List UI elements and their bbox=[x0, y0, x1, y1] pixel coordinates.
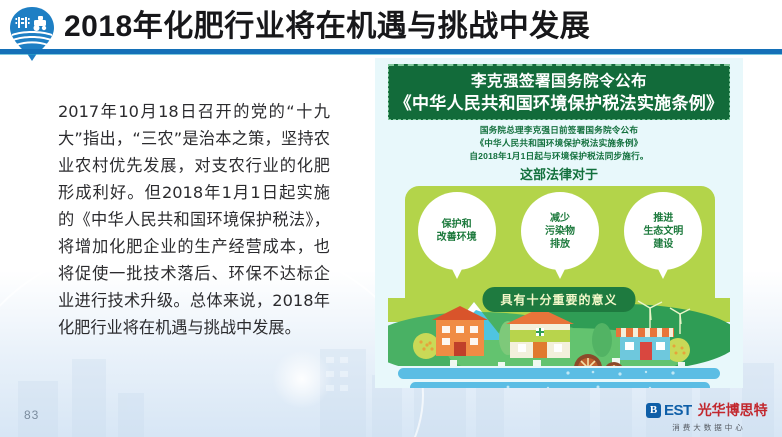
benefit-bubble-list: 保护和改善环境 减少污染物排放 推进生态文明建设 bbox=[405, 192, 715, 278]
page-title: 2018年化肥行业将在机遇与挑战中发展 bbox=[64, 6, 764, 48]
logo-mark-icon: B bbox=[646, 403, 661, 418]
brand-logo-row: B EST 光华博思特 bbox=[646, 400, 772, 420]
decorative-glow bbox=[272, 349, 332, 409]
benefit-bubble-label: 推进生态文明建设 bbox=[637, 212, 689, 251]
infographic-subtext: 国务院总理李克强日前签署国务院令公布 《中华人民共和国环境保护税法实施条例》 自… bbox=[388, 124, 730, 184]
benefit-bubble: 减少污染物排放 bbox=[521, 192, 599, 270]
subtext-line-1: 国务院总理李克强日前签署国务院令公布 bbox=[388, 124, 730, 137]
water-strip bbox=[388, 366, 730, 388]
headline-line-1: 李克强签署国务院令公布 bbox=[471, 71, 647, 92]
subtext-line-2: 《中华人民共和国环境保护税法实施条例》 bbox=[388, 137, 730, 150]
subtext-line-3: 自2018年1月1日起与环境保护税法同步施行。 bbox=[388, 150, 730, 163]
slide: 2018年化肥行业将在机遇与挑战中发展 2017年10月18日召开的党的“十九大… bbox=[0, 0, 782, 437]
benefit-bubble-label: 保护和改善环境 bbox=[431, 218, 483, 244]
benefit-bubble: 保护和改善环境 bbox=[418, 192, 496, 270]
header-rule-accent bbox=[0, 54, 782, 55]
benefit-bubble-label: 减少污染物排放 bbox=[539, 212, 581, 251]
page-number: 83 bbox=[24, 408, 39, 422]
logo-latin-text: EST bbox=[664, 402, 692, 419]
body-paragraph: 2017年10月18日召开的党的“十九大”指出，“三农”是治本之策，坚持农业农村… bbox=[58, 98, 330, 341]
logo-chinese-text: 光华博思特 bbox=[698, 400, 768, 420]
headline-line-2: 《中华人民共和国环境保护税法实施条例》 bbox=[395, 92, 724, 115]
brand-logo: B EST 光华博思特 消费大数据中心 bbox=[646, 400, 772, 430]
infographic-headline: 李克强签署国务院令公布 《中华人民共和国环境保护税法实施条例》 bbox=[388, 64, 730, 120]
benefit-bubble: 推进生态文明建设 bbox=[624, 192, 702, 270]
infographic-image: 李克强签署国务院令公布 《中华人民共和国环境保护税法实施条例》 国务院总理李克强… bbox=[375, 58, 743, 388]
subtext-emphasis: 这部法律对于 bbox=[388, 165, 730, 184]
significance-pill: 具有十分重要的意义 bbox=[482, 287, 635, 312]
logo-subtitle: 消费大数据中心 bbox=[646, 422, 772, 433]
